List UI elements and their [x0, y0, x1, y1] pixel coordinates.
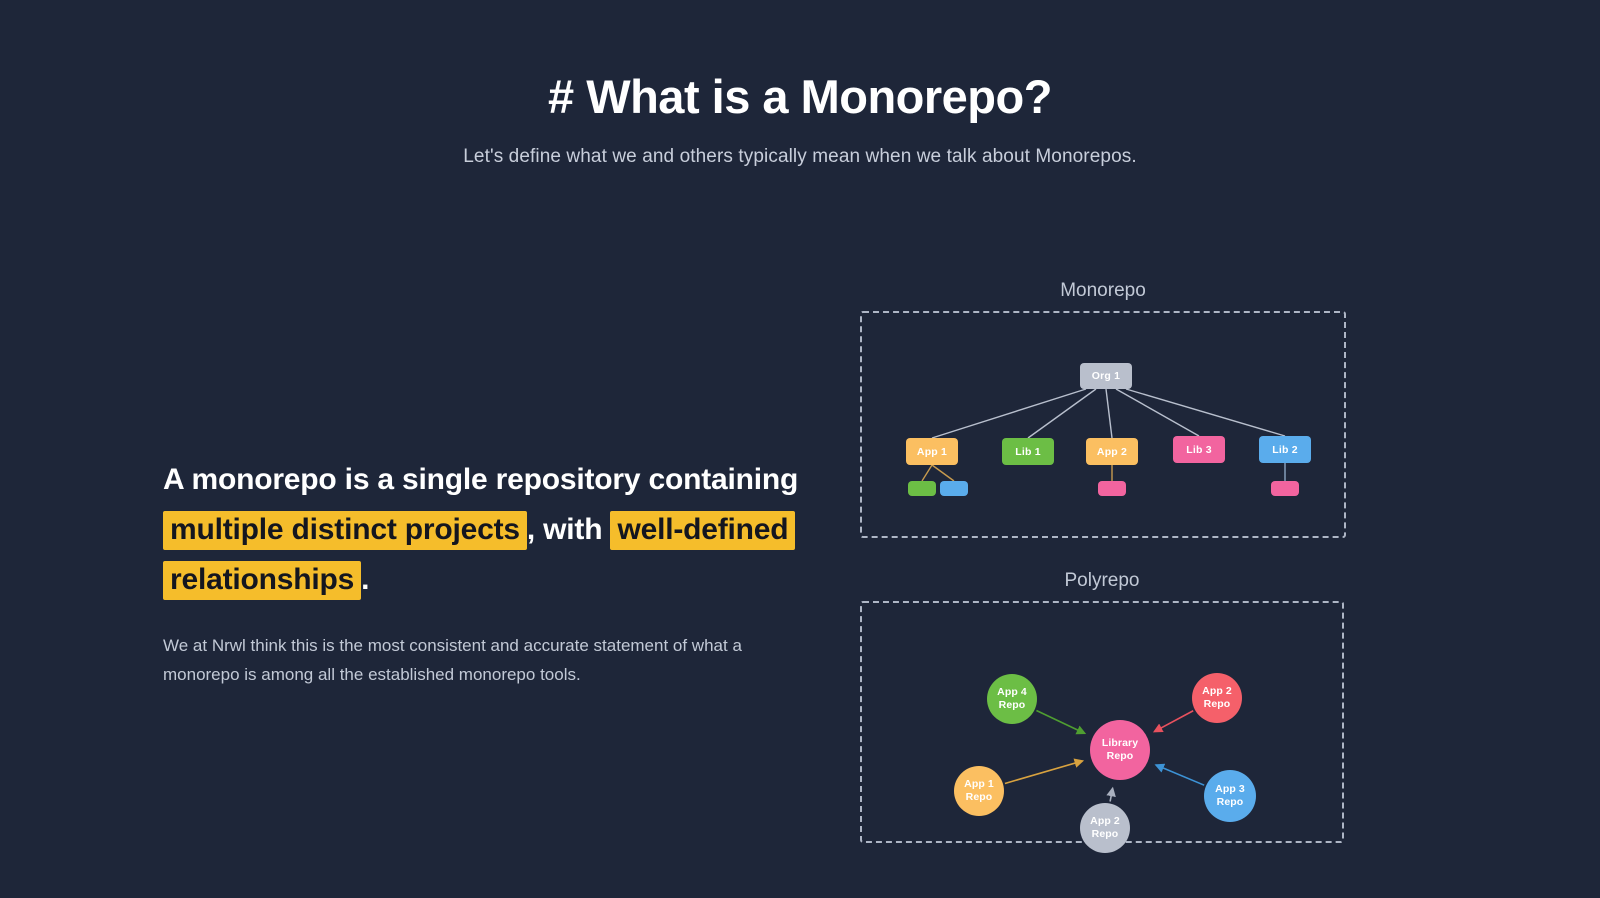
polyrepo-node-app-2-repo-6[interactable]: App 2Repo	[1080, 803, 1130, 853]
monorepo-label: Monorepo	[860, 280, 1346, 302]
monorepo-node-lib-1[interactable]: Lib 1	[1002, 438, 1054, 465]
monorepo-connector-lines	[862, 313, 1348, 540]
node-label-line2: Repo	[1092, 828, 1119, 841]
monorepo-leaf-node-2[interactable]	[940, 481, 968, 496]
node-label: Org 1	[1092, 370, 1120, 382]
monorepo-node-app-2[interactable]: App 2	[1086, 438, 1138, 465]
polyrepo-dependency-arrow	[1036, 711, 1084, 734]
monorepo-diagram-panel: Monorepo Org 1App 1Lib 1App 2Lib 3Lib 2	[860, 280, 1346, 538]
node-label-line2: Repo	[1107, 750, 1134, 763]
node-label-line1: App 2	[1202, 685, 1232, 698]
node-label-line1: App 2	[1090, 815, 1120, 828]
polyrepo-dependency-arrow	[1110, 788, 1113, 801]
monorepo-node-app-1[interactable]: App 1	[906, 438, 958, 465]
node-label-line2: Repo	[1204, 698, 1231, 711]
connector-line	[1028, 389, 1096, 438]
connector-line	[1116, 389, 1199, 436]
definition-note: We at Nrwl think this is the most consis…	[163, 631, 783, 689]
polyrepo-node-app-4-repo-1[interactable]: App 4Repo	[987, 674, 1037, 724]
node-label-line1: App 4	[997, 686, 1027, 699]
highlight-multiple-distinct-projects: multiple distinct projects	[163, 511, 527, 550]
polyrepo-node-app-1-repo-4[interactable]: App 1Repo	[954, 766, 1004, 816]
polyrepo-node-app-2-repo-2[interactable]: App 2Repo	[1192, 673, 1242, 723]
statement-text-2: , with	[527, 513, 611, 546]
polyrepo-dependency-arrow	[1156, 765, 1204, 785]
connector-line	[1126, 389, 1285, 436]
node-label: App 2	[1097, 446, 1127, 458]
monorepo-dashed-container: Org 1App 1Lib 1App 2Lib 3Lib 2	[860, 311, 1346, 538]
connector-line	[922, 465, 932, 481]
node-label-line2: Repo	[966, 791, 993, 804]
polyrepo-dependency-arrow	[1154, 711, 1193, 732]
node-label: Lib 1	[1015, 446, 1041, 458]
node-label-line2: Repo	[1217, 796, 1244, 809]
node-label: App 1	[917, 446, 947, 458]
page-title: # What is a Monorepo?	[0, 70, 1600, 124]
monorepo-leaf-node-1[interactable]	[908, 481, 936, 496]
polyrepo-dashed-container: App 4RepoApp 2RepoLibraryRepoApp 1RepoAp…	[860, 601, 1344, 843]
node-label: Lib 3	[1186, 444, 1212, 456]
content-column: A monorepo is a single repository contai…	[163, 455, 803, 689]
connector-line	[932, 465, 954, 481]
node-label-line1: Library	[1102, 737, 1138, 750]
node-label-line2: Repo	[999, 699, 1026, 712]
polyrepo-node-library-repo-3[interactable]: LibraryRepo	[1090, 720, 1150, 780]
node-label: Lib 2	[1272, 444, 1298, 456]
node-label-line1: App 3	[1215, 783, 1245, 796]
statement-text-3: .	[361, 563, 369, 596]
statement-text-1: A monorepo is a single repository contai…	[163, 463, 798, 496]
node-label-line1: App 1	[964, 778, 994, 791]
page-root: # What is a Monorepo? Let's define what …	[0, 0, 1600, 898]
connector-line	[932, 389, 1086, 438]
page-header: # What is a Monorepo? Let's define what …	[0, 70, 1600, 168]
monorepo-node-lib-2[interactable]: Lib 2	[1259, 436, 1311, 463]
polyrepo-dependency-arrow	[1005, 761, 1083, 784]
page-subtitle: Let's define what we and others typicall…	[0, 146, 1600, 168]
polyrepo-node-app-3-repo-5[interactable]: App 3Repo	[1204, 770, 1256, 822]
monorepo-leaf-node-4[interactable]	[1271, 481, 1299, 496]
monorepo-node-lib-3[interactable]: Lib 3	[1173, 436, 1225, 463]
polyrepo-label: Polyrepo	[860, 570, 1344, 592]
connector-line	[1106, 389, 1112, 438]
definition-statement: A monorepo is a single repository contai…	[163, 455, 803, 605]
monorepo-leaf-node-3[interactable]	[1098, 481, 1126, 496]
polyrepo-diagram-panel: Polyrepo App 4RepoApp 2RepoLibraryRepoAp…	[860, 570, 1344, 843]
monorepo-node-org-1[interactable]: Org 1	[1080, 363, 1132, 389]
